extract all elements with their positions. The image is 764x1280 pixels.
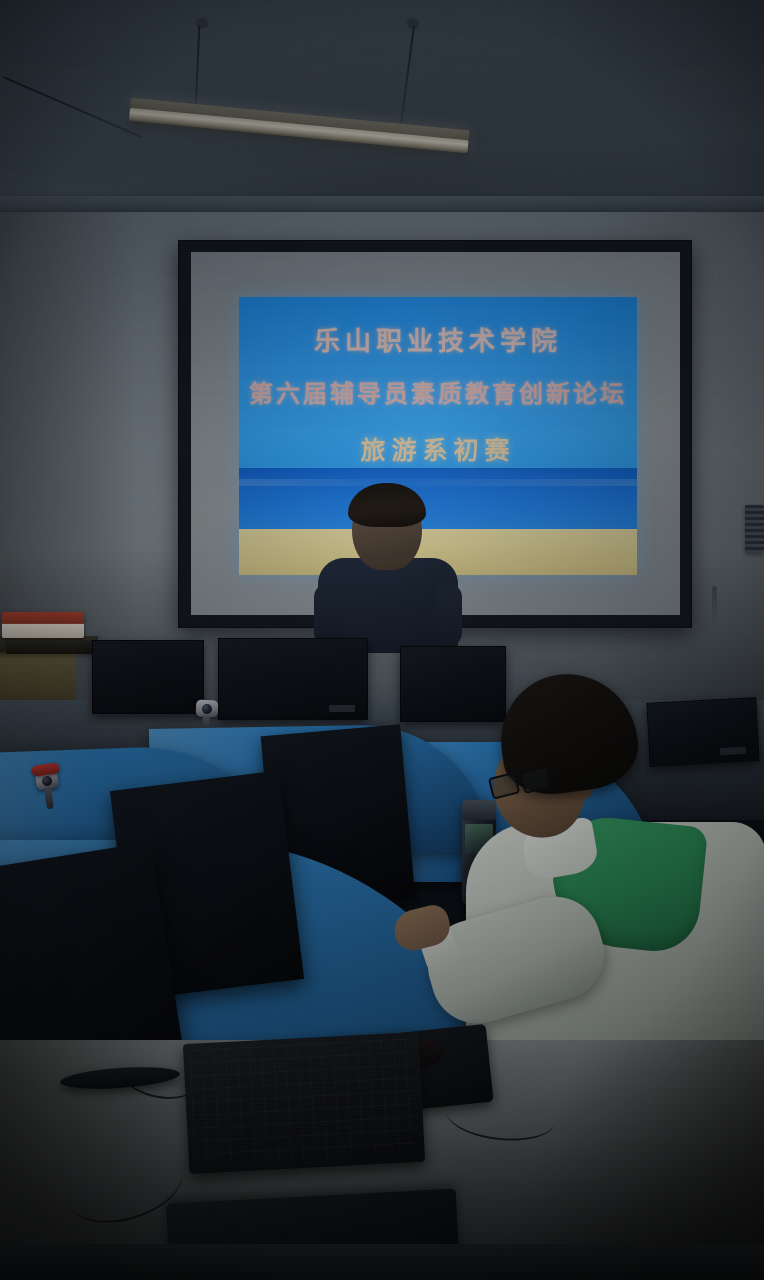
glasses-lens-right [519, 766, 551, 794]
photo-scene: 乐山职业技术学院 第六届辅导员素质教育创新论坛 旅游系初赛 [0, 0, 764, 1280]
wall-vent-icon [745, 505, 764, 553]
slide-event-name: 旅游系初赛 [239, 431, 637, 467]
presenter-arm-left [314, 584, 342, 646]
webcam-1 [35, 771, 59, 791]
webcam-3 [196, 700, 219, 718]
webcam-lens-icon [41, 775, 52, 786]
presenter-glasses-icon [360, 519, 414, 530]
slide-subtitle: 第六届辅导员素质教育创新论坛 [239, 374, 637, 409]
slide-text-block: 乐山职业技术学院 第六届辅导员素质教育创新论坛 旅游系初赛 [239, 297, 637, 467]
slide-title: 乐山职业技术学院 [239, 321, 637, 358]
hanger-cap-right [407, 18, 419, 27]
desk-front-edge [0, 1244, 764, 1280]
webcam-lens-icon [202, 704, 212, 714]
monitor-far-2 [218, 638, 368, 720]
presenter-arm-right [434, 584, 462, 646]
red-equipment-box [2, 612, 84, 638]
ceiling [0, 0, 764, 212]
keyboard-keys [189, 1038, 419, 1166]
dark-equipment-box [6, 640, 94, 654]
monitor-far-1 [92, 640, 204, 714]
keyboard [183, 1032, 425, 1174]
presenter-figure [318, 488, 458, 648]
wall-scuff [712, 586, 717, 624]
glasses-lens-left [488, 772, 520, 800]
ceiling-texture [0, 0, 764, 212]
monitor-logo [329, 705, 355, 712]
